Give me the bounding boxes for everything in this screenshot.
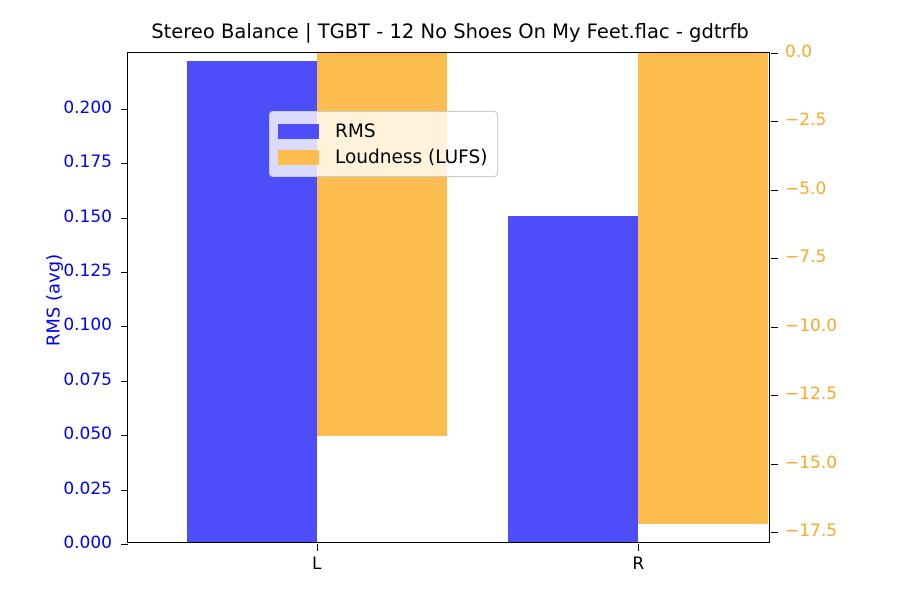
right-tick-label-5: −12.5 bbox=[785, 386, 837, 403]
x-tick-l bbox=[317, 544, 318, 551]
left-tick-label-1: 0.025 bbox=[32, 481, 112, 498]
right-tick-label-1: −2.5 bbox=[785, 112, 826, 129]
right-tick-label-6: −15.0 bbox=[785, 455, 837, 472]
right-tick-6 bbox=[771, 464, 778, 465]
bar-rms-r bbox=[508, 216, 638, 542]
right-tick-label-4: −10.0 bbox=[785, 318, 837, 335]
chart-title: Stereo Balance | TGBT - 12 No Shoes On M… bbox=[0, 20, 900, 43]
stereo-balance-chart-figure: Stereo Balance | TGBT - 12 No Shoes On M… bbox=[0, 0, 900, 600]
right-tick-3 bbox=[771, 258, 778, 259]
left-tick-6 bbox=[121, 218, 128, 219]
bar-loudness-r bbox=[638, 53, 768, 524]
left-tick-label-6: 0.150 bbox=[32, 209, 112, 226]
left-tick-label-5: 0.125 bbox=[32, 263, 112, 280]
legend-swatch-loudness-icon bbox=[278, 150, 319, 165]
chart-legend: RMS Loudness (LUFS) bbox=[269, 111, 498, 177]
x-tick-r bbox=[638, 544, 639, 551]
legend-label-loudness: Loudness (LUFS) bbox=[335, 147, 487, 168]
left-tick-label-0: 0.000 bbox=[32, 535, 112, 552]
right-tick-7 bbox=[771, 532, 778, 533]
right-tick-label-3: −7.5 bbox=[785, 249, 826, 266]
x-tick-label-l: L bbox=[312, 556, 321, 573]
left-tick-label-2: 0.050 bbox=[32, 426, 112, 443]
left-tick-label-4: 0.100 bbox=[32, 317, 112, 334]
right-tick-label-0: 0.0 bbox=[785, 44, 812, 61]
left-tick-5 bbox=[121, 272, 128, 273]
left-tick-label-3: 0.075 bbox=[32, 372, 112, 389]
left-tick-label-8: 0.200 bbox=[32, 100, 112, 117]
legend-entry-loudness: Loudness (LUFS) bbox=[278, 144, 487, 170]
right-tick-0 bbox=[771, 53, 778, 54]
left-tick-0 bbox=[121, 544, 128, 545]
left-tick-4 bbox=[121, 326, 128, 327]
left-tick-1 bbox=[121, 490, 128, 491]
left-tick-2 bbox=[121, 435, 128, 436]
left-tick-3 bbox=[121, 381, 128, 382]
left-tick-7 bbox=[121, 163, 128, 164]
legend-label-rms: RMS bbox=[335, 121, 376, 142]
legend-entry-rms: RMS bbox=[278, 118, 487, 144]
plot-area: 0.0000.0250.0500.0750.1000.1250.1500.175… bbox=[127, 52, 770, 543]
x-tick-label-r: R bbox=[632, 556, 644, 573]
legend-swatch-rms-icon bbox=[278, 124, 319, 139]
right-tick-label-2: −5.0 bbox=[785, 181, 826, 198]
left-tick-8 bbox=[121, 109, 128, 110]
right-tick-2 bbox=[771, 190, 778, 191]
right-tick-5 bbox=[771, 395, 778, 396]
right-tick-4 bbox=[771, 327, 778, 328]
left-tick-label-7: 0.175 bbox=[32, 154, 112, 171]
right-tick-label-7: −17.5 bbox=[785, 523, 837, 540]
right-tick-1 bbox=[771, 121, 778, 122]
